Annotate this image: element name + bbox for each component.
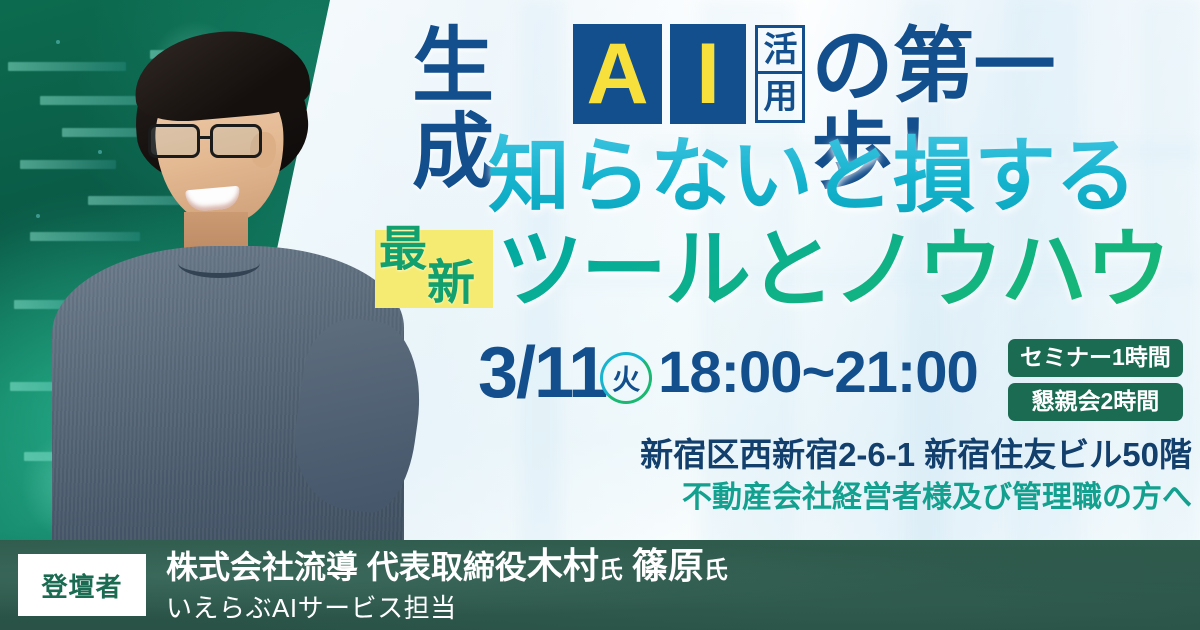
headline-line-2: 知らないと損する (488, 132, 1136, 222)
kanji-stack-katsuyou: 活 用 (755, 25, 805, 123)
speaker-info: 株式会社流導 代表取締役木村氏 篠原氏 いえらぶAIサービス担当 (166, 547, 728, 624)
speaker-name-2: 篠原 (632, 545, 704, 586)
day-of-week-badge: 火 (600, 352, 652, 404)
title-block: 生成 A I 活 用 の第一歩！ 知らないと損する 最 新 ツールとノウハウ 3… (0, 0, 1200, 540)
ai-letter-i: I (670, 24, 747, 124)
pill-seminar: セミナー1時間 (1008, 339, 1183, 377)
duration-pills: セミナー1時間 懇親会2時間 (1008, 339, 1183, 427)
pill-social: 懇親会2時間 (1008, 383, 1183, 421)
target-audience: 不動産会社経営者様及び管理職の方へ (682, 478, 1192, 518)
kanji-cell-you: 用 (755, 74, 805, 123)
speaker-bar: 登壇者 株式会社流導 代表取締役木村氏 篠原氏 いえらぶAIサービス担当 (0, 540, 1200, 630)
headline-line-3-text: ツールとノウハウ (497, 224, 1169, 316)
event-date: 3/11 (478, 336, 606, 410)
speaker-subtitle: いえらぶAIサービス担当 (166, 592, 728, 624)
speaker-name-1: 木村 (527, 545, 599, 586)
schedule-row: 3/11 火 18:00~21:00 (478, 336, 978, 410)
speaker-name-line: 株式会社流導 代表取締役木村氏 篠原氏 (166, 547, 728, 590)
speaker-badge-label: 登壇者 (18, 554, 146, 616)
speaker-honorific-1: 氏 (599, 557, 623, 584)
speaker-honorific-2: 氏 (704, 557, 728, 584)
seminar-banner: 生成 A I 活 用 の第一歩！ 知らないと損する 最 新 ツールとノウハウ 3… (0, 0, 1200, 630)
ai-letter-a: A (573, 24, 661, 124)
venue-address: 新宿区西新宿2-6-1 新宿住友ビル50階 (640, 434, 1192, 476)
badge-latest: 最 新 (375, 230, 495, 310)
event-time: 18:00~21:00 (658, 343, 978, 403)
speaker-company-role: 株式会社流導 代表取締役 (166, 549, 527, 585)
headline-line-3: 最 新 ツールとノウハウ (375, 224, 1169, 316)
kanji-cell-katsu: 活 (755, 25, 805, 74)
badge-kanji-sai: 最 (379, 226, 427, 274)
badge-kanji-shin: 新 (427, 260, 475, 308)
